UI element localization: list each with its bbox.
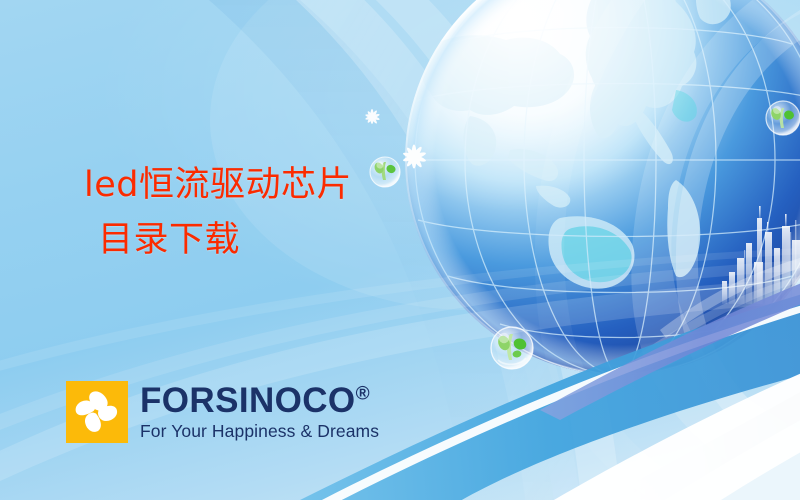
logo-text-block: FORSINOCO® For Your Happiness & Dreams — [140, 381, 379, 442]
page-title: led恒流驱动芯片 目录下载 — [84, 162, 504, 263]
logo-brand-name: FORSINOCO — [140, 381, 356, 420]
logo-mark-icon — [66, 381, 128, 443]
logo-tagline: For Your Happiness & Dreams — [140, 422, 379, 441]
bubble-sprout-mid — [491, 327, 533, 369]
headline-line-1: led恒流驱动芯片 — [84, 162, 504, 208]
promo-banner: led恒流驱动芯片 目录下载 FORSINOCO® For Your Happi… — [0, 0, 800, 500]
brand-logo: FORSINOCO® For Your Happiness & Dreams — [66, 381, 379, 443]
bubble-sprout-right — [766, 101, 800, 135]
logo-wordmark: FORSINOCO® — [140, 384, 379, 418]
registered-trademark-icon: ® — [356, 383, 370, 404]
headline-line-2: 目录下载 — [84, 217, 504, 263]
